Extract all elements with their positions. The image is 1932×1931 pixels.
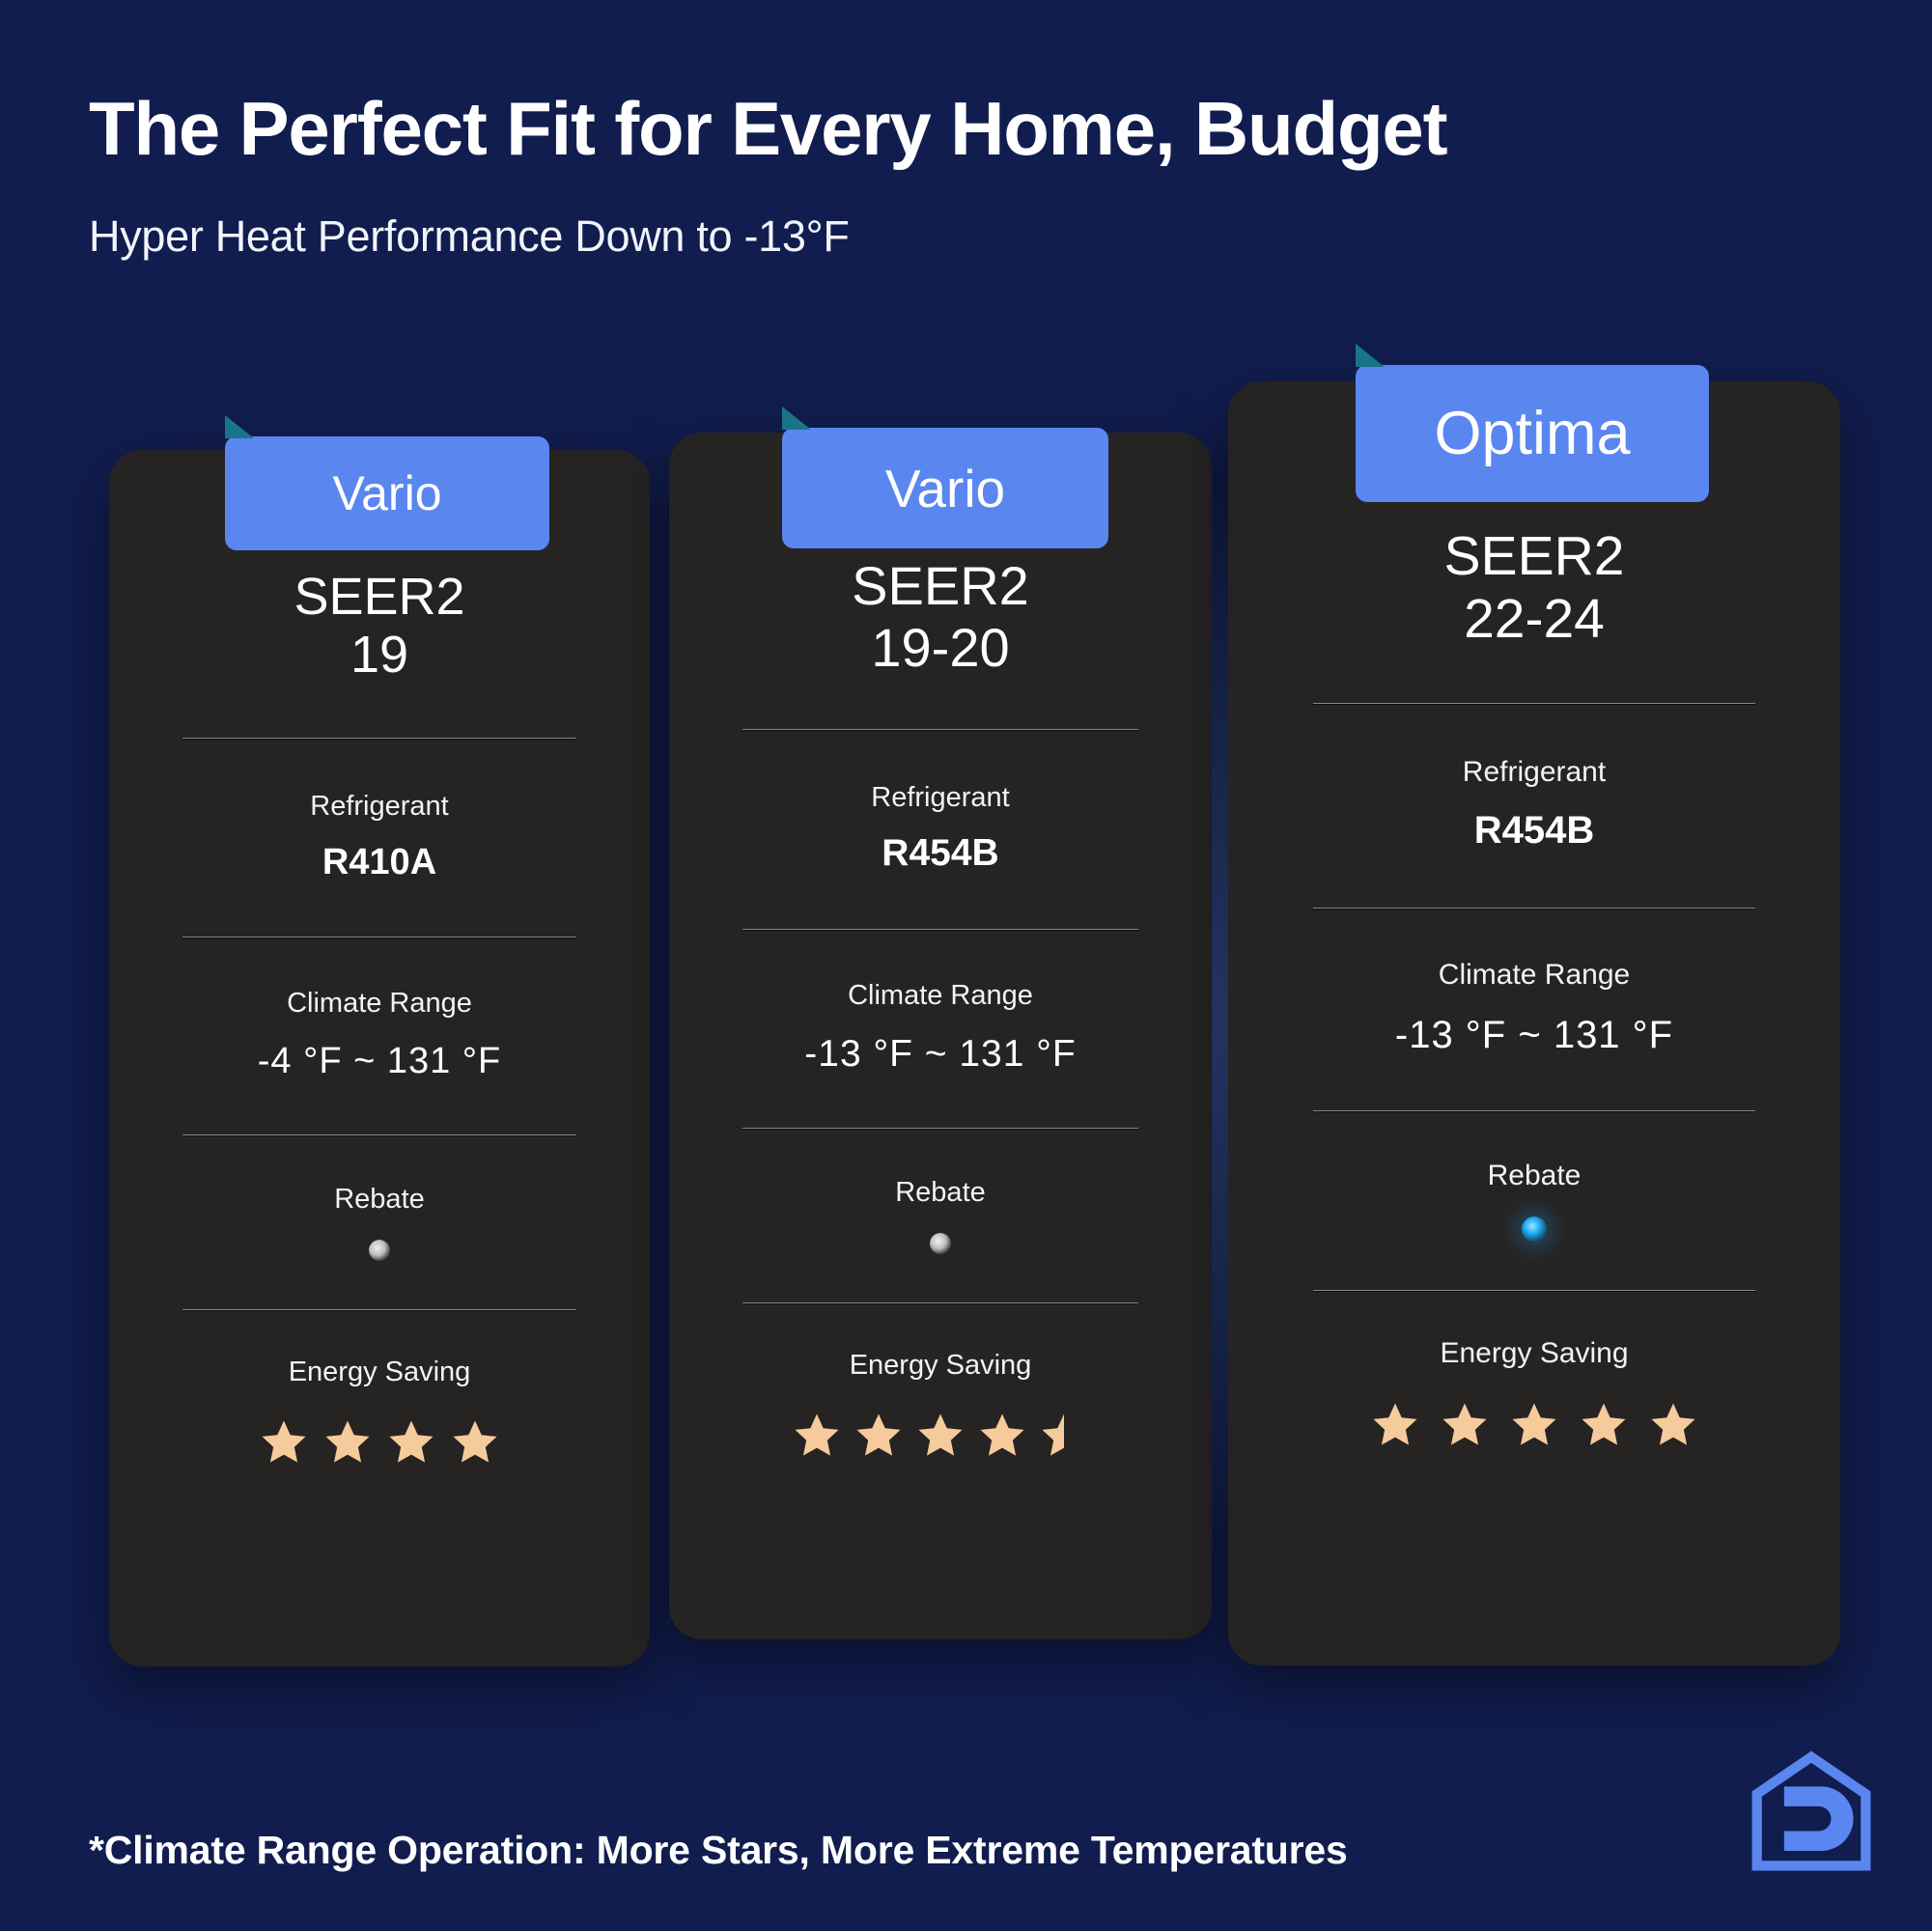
- spec-label-climate: Climate Range: [287, 987, 472, 1021]
- house-d-logo: [1750, 1749, 1873, 1873]
- divider: [1313, 908, 1755, 910]
- spec-value-climate: -13 °F ~ 131 °F: [1395, 1012, 1673, 1058]
- spec-energy-saving: Energy Saving: [1313, 1336, 1755, 1450]
- energy-star-rating: [259, 1417, 500, 1468]
- star-full-icon: [792, 1411, 842, 1461]
- spec-rebate: Rebate: [742, 1176, 1138, 1254]
- star-full-icon: [386, 1417, 436, 1468]
- spec-label-climate: Climate Range: [848, 979, 1033, 1013]
- divider: [182, 738, 576, 740]
- star-full-icon: [854, 1411, 904, 1461]
- divider: [742, 729, 1138, 731]
- star-full-icon: [1370, 1400, 1420, 1450]
- spec-energy-saving: Energy Saving: [182, 1356, 576, 1469]
- rebate-indicator-dot: [1522, 1217, 1547, 1242]
- spec-refrigerant: Refrigerant R454B: [742, 781, 1138, 878]
- spec-value-refrigerant: R454B: [882, 831, 998, 877]
- star-full-icon: [450, 1417, 500, 1468]
- spec-value-climate: -4 °F ~ 131 °F: [258, 1040, 501, 1084]
- spec-label-energy: Energy Saving: [1440, 1336, 1628, 1371]
- footnote-text: *Climate Range Operation: More Stars, Mo…: [89, 1828, 1348, 1873]
- ribbon-label: Vario: [332, 465, 441, 521]
- seer-value: 19-20: [871, 617, 1009, 679]
- spec-label-climate: Climate Range: [1439, 958, 1630, 993]
- energy-star-rating: [1370, 1400, 1698, 1450]
- card-ribbon-optima[interactable]: Optima: [1356, 365, 1709, 502]
- spec-label-refrigerant: Refrigerant: [1463, 755, 1606, 790]
- star-full-icon: [915, 1411, 966, 1461]
- ribbon-label: Optima: [1434, 399, 1630, 468]
- spec-climate-range: Climate Range -13 °F ~ 131 °F: [1313, 958, 1755, 1058]
- divider: [1313, 703, 1755, 705]
- product-card-optima[interactable]: SEER2 22-24 Refrigerant R454B Climate Ra…: [1228, 381, 1840, 1665]
- divider: [1313, 1290, 1755, 1292]
- rebate-indicator-dot: [930, 1233, 951, 1254]
- spec-label-refrigerant: Refrigerant: [310, 790, 448, 824]
- spec-label-rebate: Rebate: [895, 1176, 986, 1210]
- divider: [742, 929, 1138, 931]
- spec-refrigerant: Refrigerant R454B: [1313, 755, 1755, 854]
- divider: [1313, 1110, 1755, 1112]
- rebate-indicator-dot: [369, 1240, 390, 1261]
- ribbon-label: Vario: [885, 458, 1005, 519]
- seer-value: 22-24: [1464, 588, 1605, 651]
- star-full-icon: [1579, 1400, 1629, 1450]
- spec-rebate: Rebate: [1313, 1159, 1755, 1242]
- spec-label-energy: Energy Saving: [850, 1349, 1032, 1383]
- star-full-icon: [259, 1417, 309, 1468]
- seer-label: SEER2: [1444, 526, 1625, 588]
- divider: [182, 1309, 576, 1311]
- spec-label-rebate: Rebate: [334, 1183, 425, 1217]
- spec-value-climate: -13 °F ~ 131 °F: [804, 1032, 1076, 1077]
- card-ribbon-vario-1[interactable]: Vario: [225, 436, 549, 550]
- ribbon-fold-icon: [782, 406, 811, 430]
- ribbon-fold-icon: [1356, 344, 1385, 367]
- spec-label-refrigerant: Refrigerant: [871, 781, 1009, 815]
- spec-value-refrigerant: R410A: [322, 841, 436, 885]
- star-full-icon: [977, 1411, 1027, 1461]
- star-full-icon: [322, 1417, 373, 1468]
- star-half-icon: [1039, 1411, 1089, 1461]
- energy-star-rating: [792, 1411, 1089, 1461]
- divider: [182, 937, 576, 938]
- product-card-vario-19-20[interactable]: SEER2 19-20 Refrigerant R454B Climate Ra…: [669, 433, 1212, 1639]
- spec-label-energy: Energy Saving: [289, 1356, 471, 1389]
- divider: [742, 1128, 1138, 1130]
- star-full-icon: [1440, 1400, 1490, 1450]
- star-full-icon: [1509, 1400, 1559, 1450]
- seer-value: 19: [350, 626, 408, 686]
- divider: [742, 1302, 1138, 1304]
- seer-label: SEER2: [294, 568, 464, 626]
- spec-label-rebate: Rebate: [1488, 1159, 1582, 1193]
- product-card-row: SEER2 19 Refrigerant R410A Climate Range…: [0, 0, 1932, 1931]
- spec-climate-range: Climate Range -4 °F ~ 131 °F: [182, 987, 576, 1083]
- card-ribbon-vario-2[interactable]: Vario: [782, 428, 1108, 548]
- spec-rebate: Rebate: [182, 1183, 576, 1261]
- spec-energy-saving: Energy Saving: [742, 1349, 1138, 1462]
- spec-climate-range: Climate Range -13 °F ~ 131 °F: [742, 979, 1138, 1077]
- divider: [182, 1134, 576, 1136]
- spec-value-refrigerant: R454B: [1474, 807, 1595, 854]
- star-full-icon: [1648, 1400, 1698, 1450]
- product-card-vario-19[interactable]: SEER2 19 Refrigerant R410A Climate Range…: [109, 450, 650, 1666]
- spec-refrigerant: Refrigerant R410A: [182, 790, 576, 884]
- seer-label: SEER2: [852, 556, 1029, 617]
- ribbon-fold-icon: [225, 415, 254, 438]
